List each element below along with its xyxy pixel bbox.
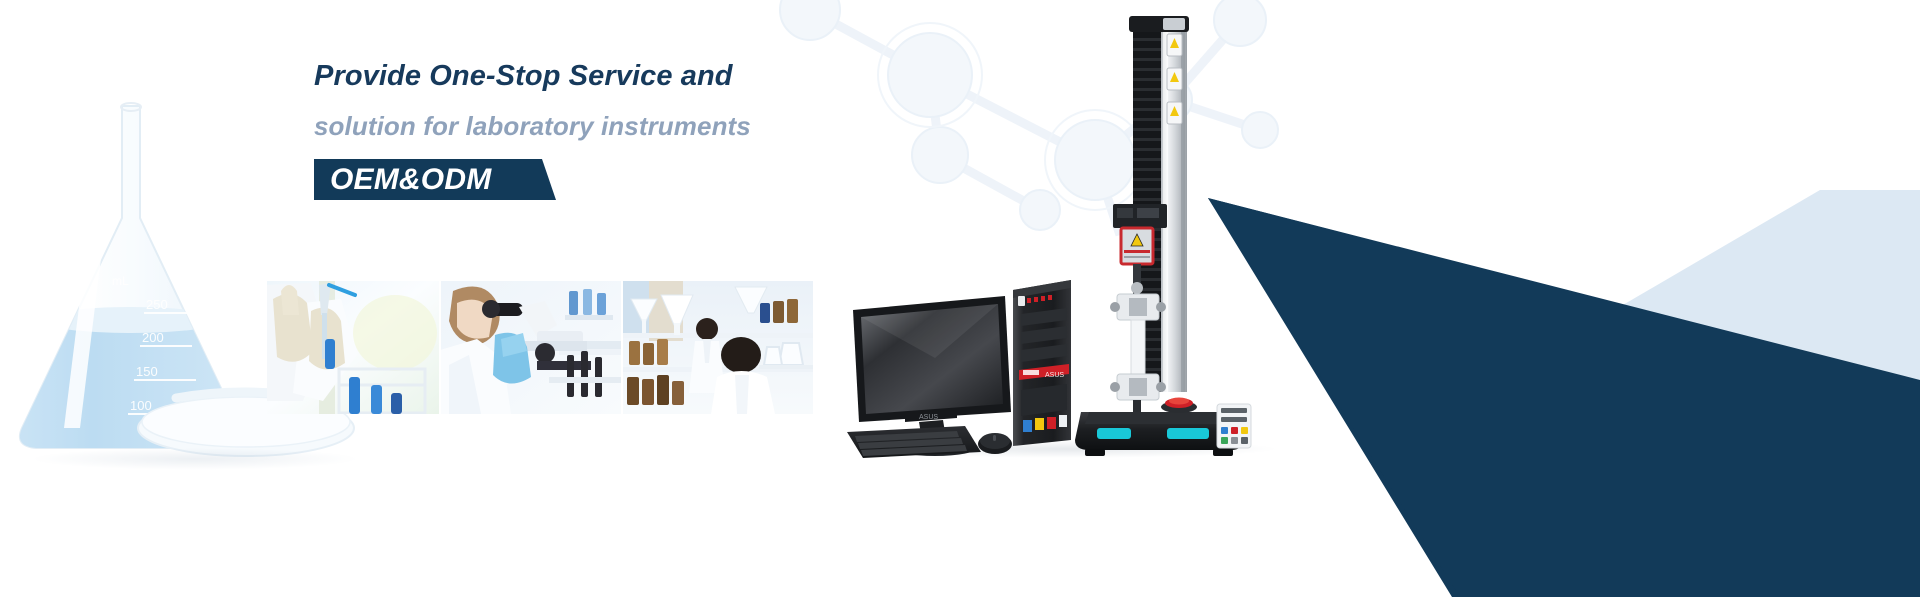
mouse-icon	[978, 433, 1012, 454]
svg-text:mL: mL	[112, 274, 129, 288]
warning-triangle-icon	[1167, 34, 1182, 124]
svg-text:250: 250	[146, 297, 168, 312]
machine-cyan-strip	[1097, 428, 1131, 439]
microscope-photo	[441, 281, 621, 414]
svg-text:150: 150	[136, 364, 158, 379]
light-blue-wedge-shape-2	[1580, 190, 1920, 597]
svg-text:ASUS: ASUS	[919, 414, 938, 421]
lab-bench-photo	[623, 281, 813, 414]
emergency-stop-button-icon	[1161, 398, 1197, 414]
light-blue-wedge-shape	[1720, 190, 1920, 420]
lab-photo-strip	[267, 281, 813, 414]
hero-banner: 250 200 150 100 mL Provide One-Stop Serv…	[0, 0, 1920, 597]
navy-arrow-shape	[1208, 198, 1920, 597]
tower-brand-text: ASUS	[1045, 372, 1064, 379]
universal-tensile-testing-machine-icon	[1075, 16, 1251, 456]
svg-text:200: 200	[142, 330, 164, 345]
product-group: ASUS ASUS	[845, 8, 1305, 458]
badge-label: OEM&ODM	[314, 159, 511, 200]
lab-pipetting-photo	[267, 281, 439, 414]
oem-odm-badge: OEM&ODM	[314, 159, 511, 200]
svg-text:100: 100	[130, 398, 152, 413]
machine-cyan-strip-2	[1167, 428, 1209, 439]
navy-arrow-shape-fill	[1208, 198, 1920, 597]
desktop-tower-icon: ASUS	[1013, 280, 1071, 446]
